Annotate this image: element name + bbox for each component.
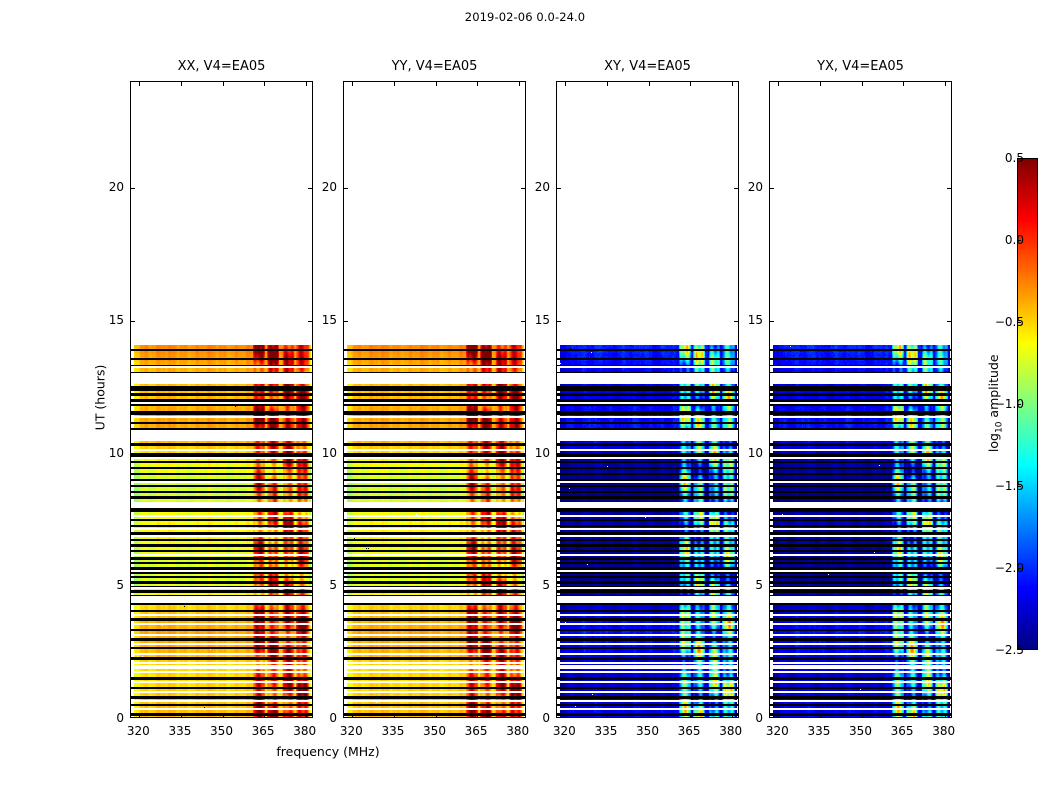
x-tick-mark	[945, 713, 946, 717]
y-tick-mark	[344, 454, 348, 455]
x-tick-mark	[690, 713, 691, 717]
x-tick-mark	[903, 82, 904, 86]
colorbar-tick-label: −2.0	[995, 561, 1024, 575]
x-tick-mark	[565, 82, 566, 86]
y-tick-label: 0	[739, 711, 763, 725]
y-tick-mark	[770, 321, 774, 322]
y-tick-label: 5	[100, 578, 124, 592]
y-tick-mark	[557, 321, 561, 322]
y-tick-label: 10	[526, 446, 550, 460]
y-tick-mark	[131, 321, 135, 322]
x-tick-mark	[181, 82, 182, 86]
x-tick-mark	[519, 82, 520, 86]
y-tick-mark	[734, 188, 738, 189]
axes-xy[interactable]	[556, 81, 739, 718]
x-tick-label: 320	[340, 724, 363, 738]
figure-suptitle: 2019-02-06 0.0-24.0	[0, 10, 1050, 24]
y-tick-mark	[521, 188, 525, 189]
x-tick-mark	[778, 713, 779, 717]
heatmap-image-yy	[344, 82, 526, 718]
x-tick-mark	[394, 82, 395, 86]
x-tick-mark	[306, 713, 307, 717]
x-tick-label: 320	[766, 724, 789, 738]
y-tick-label: 5	[313, 578, 337, 592]
panel-title-xy: XY, V4=EA05	[556, 59, 739, 74]
x-tick-mark	[139, 713, 140, 717]
y-tick-label: 20	[100, 180, 124, 194]
x-tick-label: 365	[678, 724, 701, 738]
y-tick-mark	[308, 586, 312, 587]
x-tick-mark	[139, 82, 140, 86]
x-tick-mark	[903, 713, 904, 717]
x-tick-label: 380	[506, 724, 529, 738]
panel-xy[interactable]: XY, V4=EA05	[556, 81, 739, 718]
y-tick-mark	[947, 586, 951, 587]
x-tick-mark	[436, 82, 437, 86]
y-tick-label: 0	[100, 711, 124, 725]
colorbar-tick-label: −2.5	[995, 643, 1024, 657]
y-tick-label: 0	[313, 711, 337, 725]
x-tick-mark	[264, 82, 265, 86]
y-tick-mark	[770, 188, 774, 189]
y-tick-label: 5	[526, 578, 550, 592]
x-axis-label: frequency (MHz)	[130, 744, 526, 759]
y-tick-mark	[521, 454, 525, 455]
y-tick-mark	[734, 321, 738, 322]
y-tick-mark	[521, 321, 525, 322]
y-tick-mark	[770, 454, 774, 455]
x-tick-mark	[732, 713, 733, 717]
x-tick-label: 320	[127, 724, 150, 738]
heatmap-image-xy	[557, 82, 739, 718]
panel-yx[interactable]: YX, V4=EA05	[769, 81, 952, 718]
x-tick-mark	[519, 713, 520, 717]
x-tick-label: 380	[932, 724, 955, 738]
x-tick-mark	[264, 713, 265, 717]
x-tick-label: 365	[252, 724, 275, 738]
heatmap-image-yx	[770, 82, 952, 718]
panel-title-xx: XX, V4=EA05	[130, 59, 313, 74]
x-tick-label: 320	[553, 724, 576, 738]
y-tick-mark	[131, 454, 135, 455]
y-tick-label: 5	[739, 578, 763, 592]
colorbar-tick-label: −0.5	[995, 315, 1024, 329]
y-tick-label: 10	[313, 446, 337, 460]
x-tick-label: 335	[381, 724, 404, 738]
colorbar-tick-label: −1.5	[995, 479, 1024, 493]
figure-canvas: 2019-02-06 0.0-24.0 XX, V4=EA05 YY, V4=E…	[0, 0, 1050, 800]
y-tick-label: 20	[313, 180, 337, 194]
y-tick-mark	[557, 454, 561, 455]
x-tick-mark	[181, 713, 182, 717]
panel-yy[interactable]: YY, V4=EA05	[343, 81, 526, 718]
x-tick-mark	[649, 82, 650, 86]
y-tick-label: 15	[100, 313, 124, 327]
x-tick-mark	[607, 713, 608, 717]
axes-yy[interactable]	[343, 81, 526, 718]
y-tick-label: 10	[100, 446, 124, 460]
x-tick-mark	[352, 82, 353, 86]
y-tick-mark	[947, 188, 951, 189]
x-tick-label: 365	[891, 724, 914, 738]
y-tick-mark	[947, 321, 951, 322]
x-tick-label: 350	[636, 724, 659, 738]
y-tick-mark	[947, 454, 951, 455]
y-tick-mark	[308, 454, 312, 455]
y-tick-mark	[770, 586, 774, 587]
x-tick-label: 335	[594, 724, 617, 738]
x-tick-mark	[690, 82, 691, 86]
y-tick-label: 0	[526, 711, 550, 725]
x-tick-mark	[565, 713, 566, 717]
y-tick-mark	[308, 321, 312, 322]
x-tick-mark	[223, 713, 224, 717]
y-tick-label: 20	[739, 180, 763, 194]
panel-xx[interactable]: XX, V4=EA05	[130, 81, 313, 718]
x-tick-label: 380	[293, 724, 316, 738]
y-tick-mark	[344, 188, 348, 189]
colorbar-tick-label: 0.0	[1005, 233, 1024, 247]
x-tick-mark	[945, 82, 946, 86]
y-tick-mark	[734, 586, 738, 587]
y-tick-label: 15	[313, 313, 337, 327]
x-tick-mark	[223, 82, 224, 86]
x-tick-mark	[862, 713, 863, 717]
panel-title-yy: YY, V4=EA05	[343, 59, 526, 74]
axes-yx[interactable]	[769, 81, 952, 718]
y-tick-label: 10	[739, 446, 763, 460]
x-tick-mark	[778, 82, 779, 86]
y-tick-mark	[734, 454, 738, 455]
x-tick-mark	[862, 82, 863, 86]
x-tick-mark	[607, 82, 608, 86]
y-tick-label: 15	[739, 313, 763, 327]
y-tick-mark	[344, 586, 348, 587]
colorbar-tick-label: 0.5	[1005, 151, 1024, 165]
axes-xx[interactable]	[130, 81, 313, 718]
x-tick-label: 350	[423, 724, 446, 738]
x-tick-label: 380	[719, 724, 742, 738]
y-tick-mark	[131, 586, 135, 587]
x-tick-mark	[732, 82, 733, 86]
heatmap-image-xx	[131, 82, 313, 718]
x-tick-label: 335	[807, 724, 830, 738]
y-tick-label: 20	[526, 180, 550, 194]
panel-title-yx: YX, V4=EA05	[769, 59, 952, 74]
y-tick-label: 15	[526, 313, 550, 327]
x-tick-mark	[352, 713, 353, 717]
x-tick-mark	[649, 713, 650, 717]
x-tick-mark	[306, 82, 307, 86]
y-tick-mark	[557, 188, 561, 189]
y-tick-mark	[521, 586, 525, 587]
colorbar-tick-label: −1.0	[995, 397, 1024, 411]
x-tick-mark	[477, 82, 478, 86]
y-tick-mark	[557, 586, 561, 587]
x-tick-mark	[820, 82, 821, 86]
x-tick-label: 350	[210, 724, 233, 738]
x-tick-mark	[394, 713, 395, 717]
x-tick-mark	[477, 713, 478, 717]
y-tick-mark	[308, 188, 312, 189]
x-tick-mark	[820, 713, 821, 717]
x-tick-label: 365	[465, 724, 488, 738]
y-tick-mark	[131, 188, 135, 189]
y-tick-mark	[344, 321, 348, 322]
x-tick-mark	[436, 713, 437, 717]
x-tick-label: 350	[849, 724, 872, 738]
x-tick-label: 335	[168, 724, 191, 738]
